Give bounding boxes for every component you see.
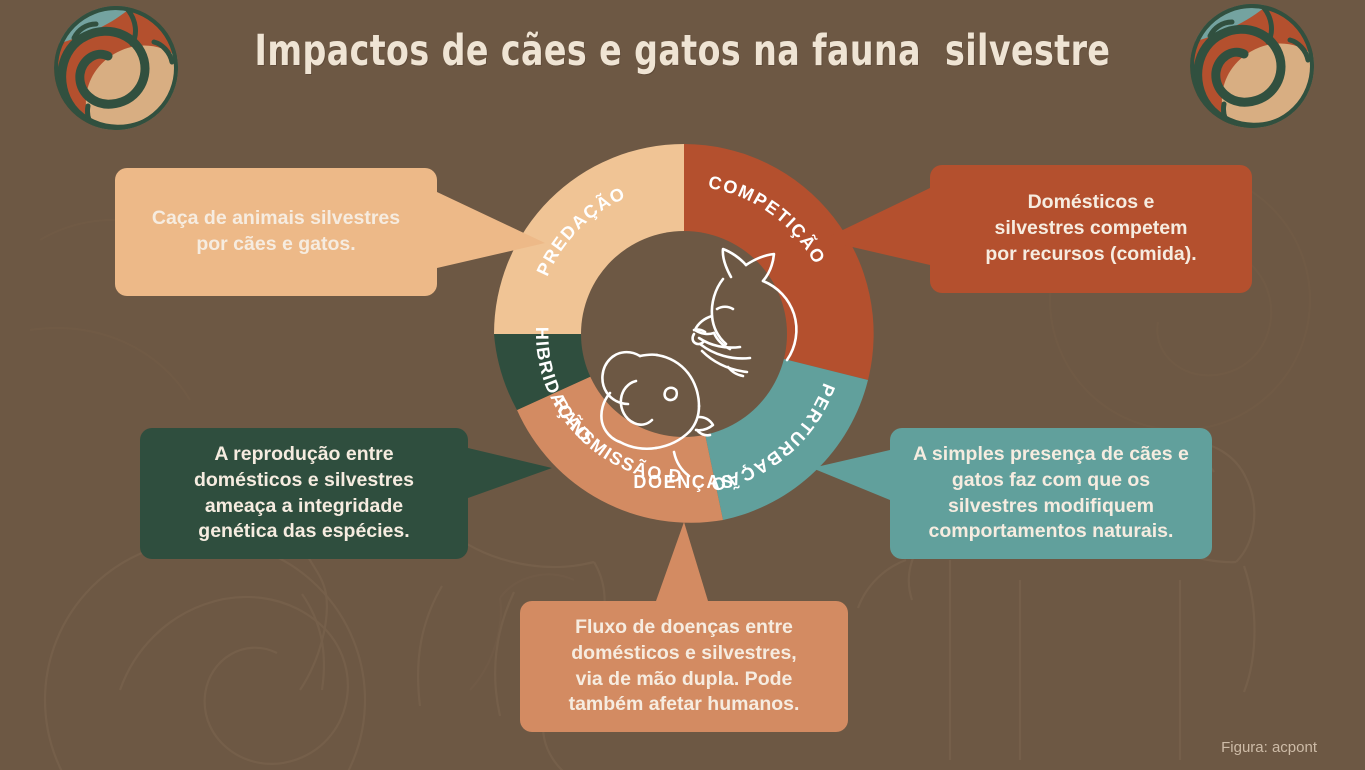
connector-transmissao [656,522,708,601]
callout-hibridacao-text: A reprodução entre domésticos e silvestr… [194,442,414,545]
callout-perturbacao-text: A simples presença de cães e gatos faz c… [913,442,1189,545]
callout-predacao-text: Caça de animais silvestres por cães e ga… [152,206,400,257]
callout-perturbacao[interactable]: A simples presença de cães e gatos faz c… [890,428,1212,559]
callout-transmissao-text: Fluxo de doenças entre domésticos e silv… [569,615,800,718]
callout-predacao[interactable]: Caça de animais silvestres por cães e ga… [115,168,437,296]
callout-competicao[interactable]: Domésticos e silvestres competem por rec… [930,165,1252,293]
callout-competicao-text: Domésticos e silvestres competem por rec… [985,190,1196,267]
impact-wheel: PREDAÇÃO COMPETIÇÃO PERTURBAÇÃO HIBRIDAÇ… [488,138,880,530]
segment-label-transmissao-line2: DOENÇAS [633,472,734,492]
page-title: Impactos de cães e gatos na fauna silves… [96,26,1270,76]
callout-hibridacao[interactable]: A reprodução entre domésticos e silvestr… [140,428,468,559]
callout-transmissao[interactable]: Fluxo de doenças entre domésticos e silv… [520,601,848,732]
wheel-center-circle [581,231,787,437]
figure-caption: Figura: acpont [1221,739,1317,756]
infographic-canvas: Impactos de cães e gatos na fauna silves… [0,0,1365,770]
